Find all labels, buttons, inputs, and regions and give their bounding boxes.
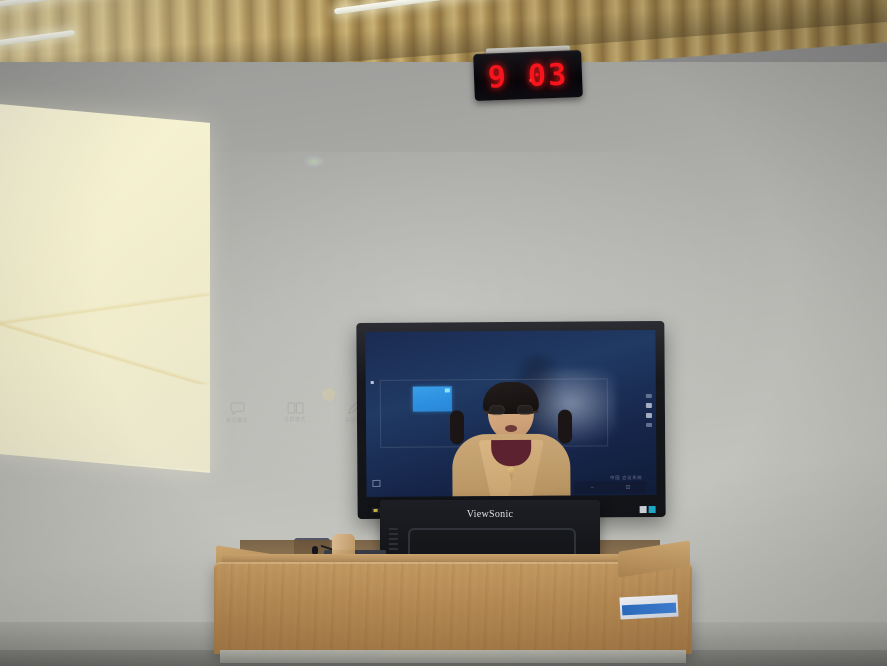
projected-toolbar-item: 分屏模式 (280, 402, 310, 424)
lens-flare-artifact (303, 155, 325, 168)
digital-wall-clock: 9 03 (473, 50, 583, 101)
document-papers (619, 594, 678, 619)
glasses-lens (517, 405, 533, 415)
video-presenter (452, 384, 571, 497)
thumbnail-indicator-icon (445, 388, 450, 392)
slide-text-block: 是中国共产党肌体 靠党员的先进性和纯 效的工作来完成。 员的衡量标准和规范 和基… (0, 105, 210, 413)
glasses-icon (489, 404, 533, 416)
presenter-mouth (505, 425, 517, 432)
paper-blue-band (622, 603, 676, 616)
glasses-lens (489, 405, 505, 415)
wooden-lectern: ViewSonic (214, 500, 692, 666)
monitor-vents (389, 528, 398, 554)
video-thumbnail-tile[interactable] (413, 386, 452, 411)
screen-left-indicator-icon (371, 381, 374, 384)
presenter-jacket-button (508, 467, 515, 474)
lectern-base (220, 650, 686, 663)
presenter-hair-side (450, 410, 464, 444)
thermos-cap (332, 534, 355, 550)
minimize-icon[interactable]: – (591, 484, 594, 490)
mic-icon[interactable] (646, 394, 652, 398)
presenter-eye (483, 411, 489, 413)
clock-time-display: 9 03 (487, 60, 568, 93)
viewsonic-interactive-display[interactable]: 中国 会议系统 – (356, 321, 665, 519)
clock-colon-dot (529, 79, 532, 82)
screen-corner-widget-icon[interactable] (372, 480, 380, 487)
conference-control-bar[interactable]: – ◫ (574, 481, 646, 494)
projected-toolbar-label: 批注模式 (222, 417, 252, 424)
podium-monitor-brand-label: ViewSonic (467, 509, 514, 520)
screenshot-scene: 9 03 是中国共产党肌体 靠党员的先进性和纯 效的工作来完成。 员的衡量标准和… (0, 0, 887, 666)
more-icon[interactable] (646, 423, 652, 427)
display-screen[interactable]: 中国 会议系统 – (365, 330, 656, 497)
presenter-eye (533, 411, 539, 413)
projected-more-icon (322, 388, 335, 401)
projected-toolbar-item: 批注模式 (222, 402, 252, 424)
layout-icon[interactable] (646, 413, 652, 418)
fullscreen-icon[interactable]: ◫ (626, 484, 631, 490)
conference-sidebar[interactable] (646, 394, 652, 427)
presenter-hair-side (558, 410, 572, 444)
projected-toolbar-label: 分屏模式 (280, 416, 310, 423)
projected-slide: 是中国共产党肌体 靠党员的先进性和纯 效的工作来完成。 员的衡量标准和规范 和基… (0, 85, 210, 473)
annotation-icon (222, 402, 252, 415)
projected-toolbar: 批注模式 分屏模式 书写笔 (222, 402, 368, 424)
camera-icon[interactable] (646, 403, 652, 408)
windows-icon (280, 402, 310, 414)
